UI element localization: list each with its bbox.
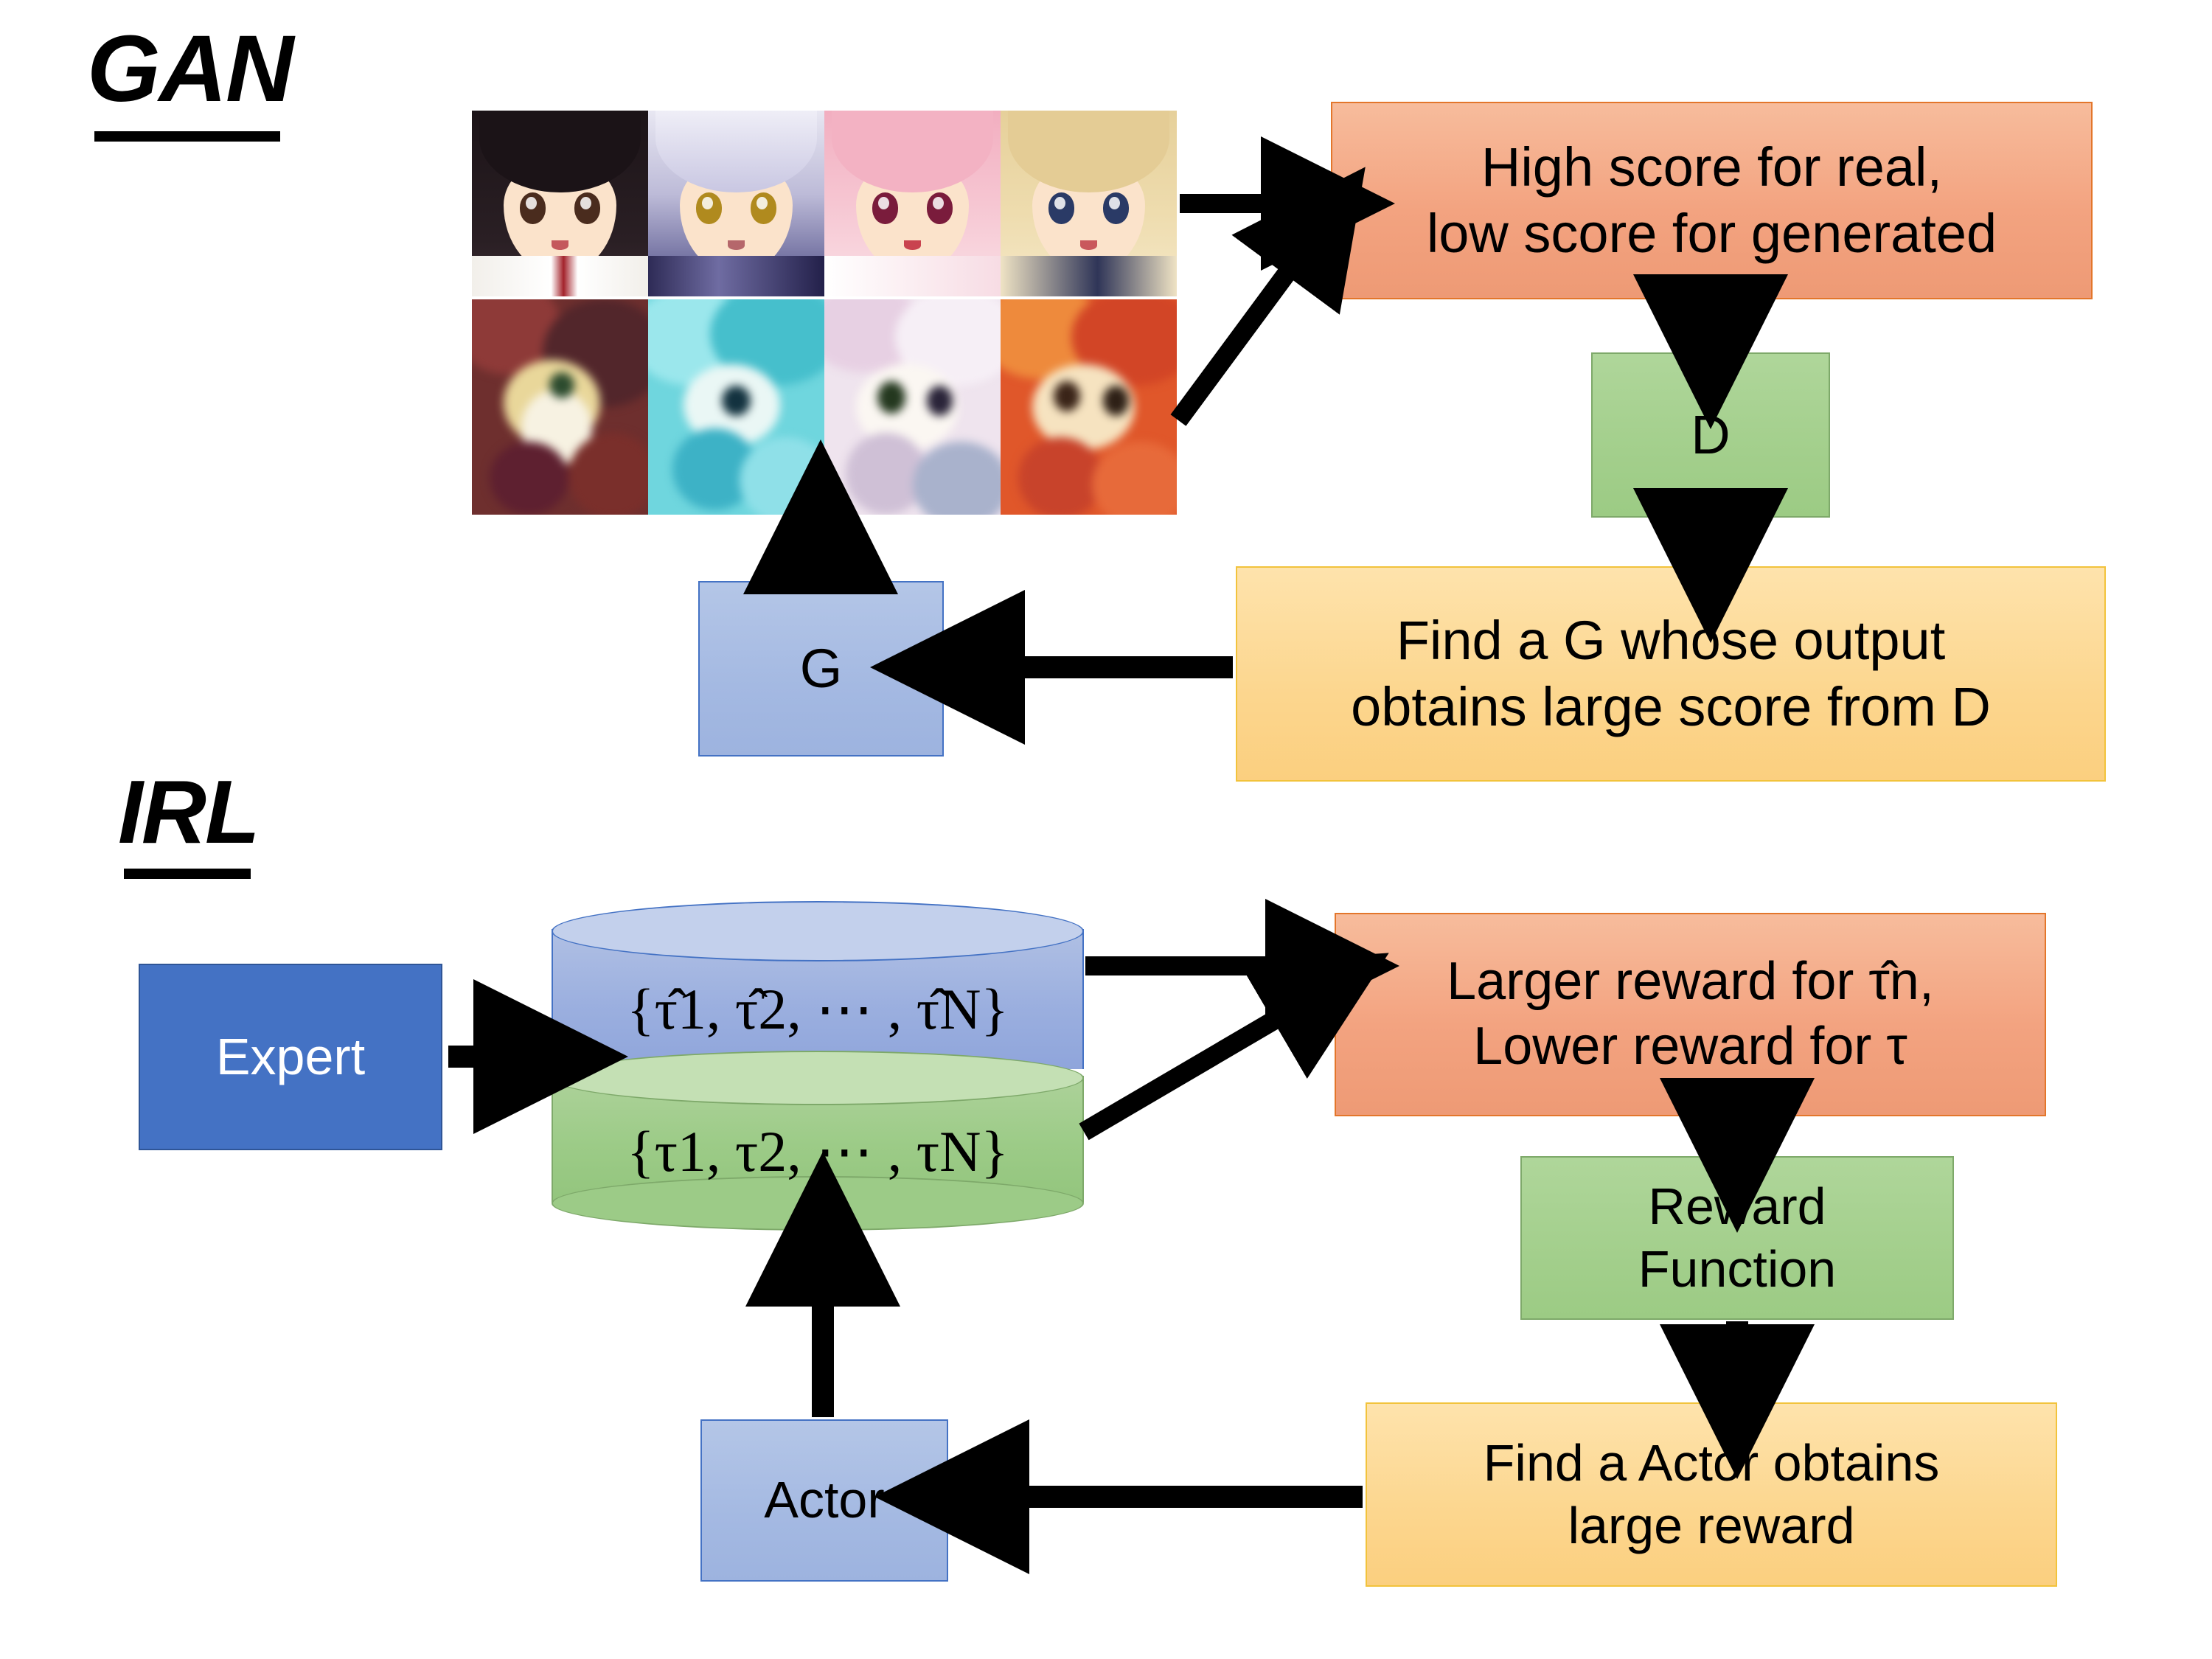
real-image-3 [824,111,1001,296]
actor-label: Actor [764,1469,884,1531]
actor-trajectory-label: {τ1, τ2, ⋯ , τN} [552,1119,1084,1185]
expert-trajectory-cylinder: {τ̂1, τ̂2, ⋯ , τ̂N} [552,901,1084,1071]
real-image-row [472,111,1177,296]
generator-objective-box: Find a G whose output obtains large scor… [1236,566,2106,782]
expert-trajectory-label: {τ̂1, τ̂2, ⋯ , τ̂N} [552,976,1084,1043]
irl-heading-underline [124,869,251,879]
generator-objective-line2: obtains large score from D [1351,674,1991,740]
actor-objective-line2: large reward [1568,1495,1854,1557]
generated-image-4 [1001,299,1177,515]
actor-cylinder-top-cap [552,1051,1084,1105]
generated-image-row [472,299,1177,515]
real-image-4 [1001,111,1177,296]
generator-label: G [800,636,843,702]
generator-box: G [698,581,944,757]
generator-objective-line1: Find a G whose output [1397,608,1946,674]
reward-function-box: Reward Function [1520,1156,1954,1320]
reward-function-line2: Function [1638,1238,1836,1301]
gan-section-heading: GAN [87,22,292,116]
discriminator-criteria-box: High score for real, low score for gener… [1331,102,2093,299]
generated-image-1 [472,299,648,515]
actor-trajectory-cylinder: {τ1, τ2, ⋯ , τN} [552,1051,1084,1235]
real-image-1 [472,111,648,296]
reward-criteria-line1: Larger reward for τ̂n, [1447,950,1934,1015]
generated-image-2 [648,299,824,515]
actor-objective-box: Find a Actor obtains large reward [1366,1402,2057,1587]
reward-criteria-line2: Lower reward for τ [1473,1015,1907,1079]
discriminator-criteria-line1: High score for real, [1481,134,1942,201]
reward-function-line1: Reward [1648,1175,1826,1238]
arrow-actor-traj-to-reward-criteria [1084,992,1323,1132]
actor-box: Actor [700,1419,948,1582]
reward-criteria-box: Larger reward for τ̂n, Lower reward for … [1335,913,2046,1116]
expert-box: Expert [139,964,442,1150]
irl-section-heading: IRL [118,767,259,857]
gan-heading-underline [94,131,280,142]
expert-cylinder-top-cap [552,901,1084,961]
expert-label: Expert [216,1026,365,1088]
discriminator-criteria-line2: low score for generated [1427,201,1997,267]
arrow-generated-images-to-criteria [1178,229,1320,420]
actor-objective-line1: Find a Actor obtains [1484,1432,1940,1495]
discriminator-box: D [1591,352,1830,518]
diagram-canvas: GAN [0,0,2212,1659]
generated-image-3 [824,299,1001,515]
real-image-2 [648,111,824,296]
discriminator-label: D [1691,402,1730,468]
